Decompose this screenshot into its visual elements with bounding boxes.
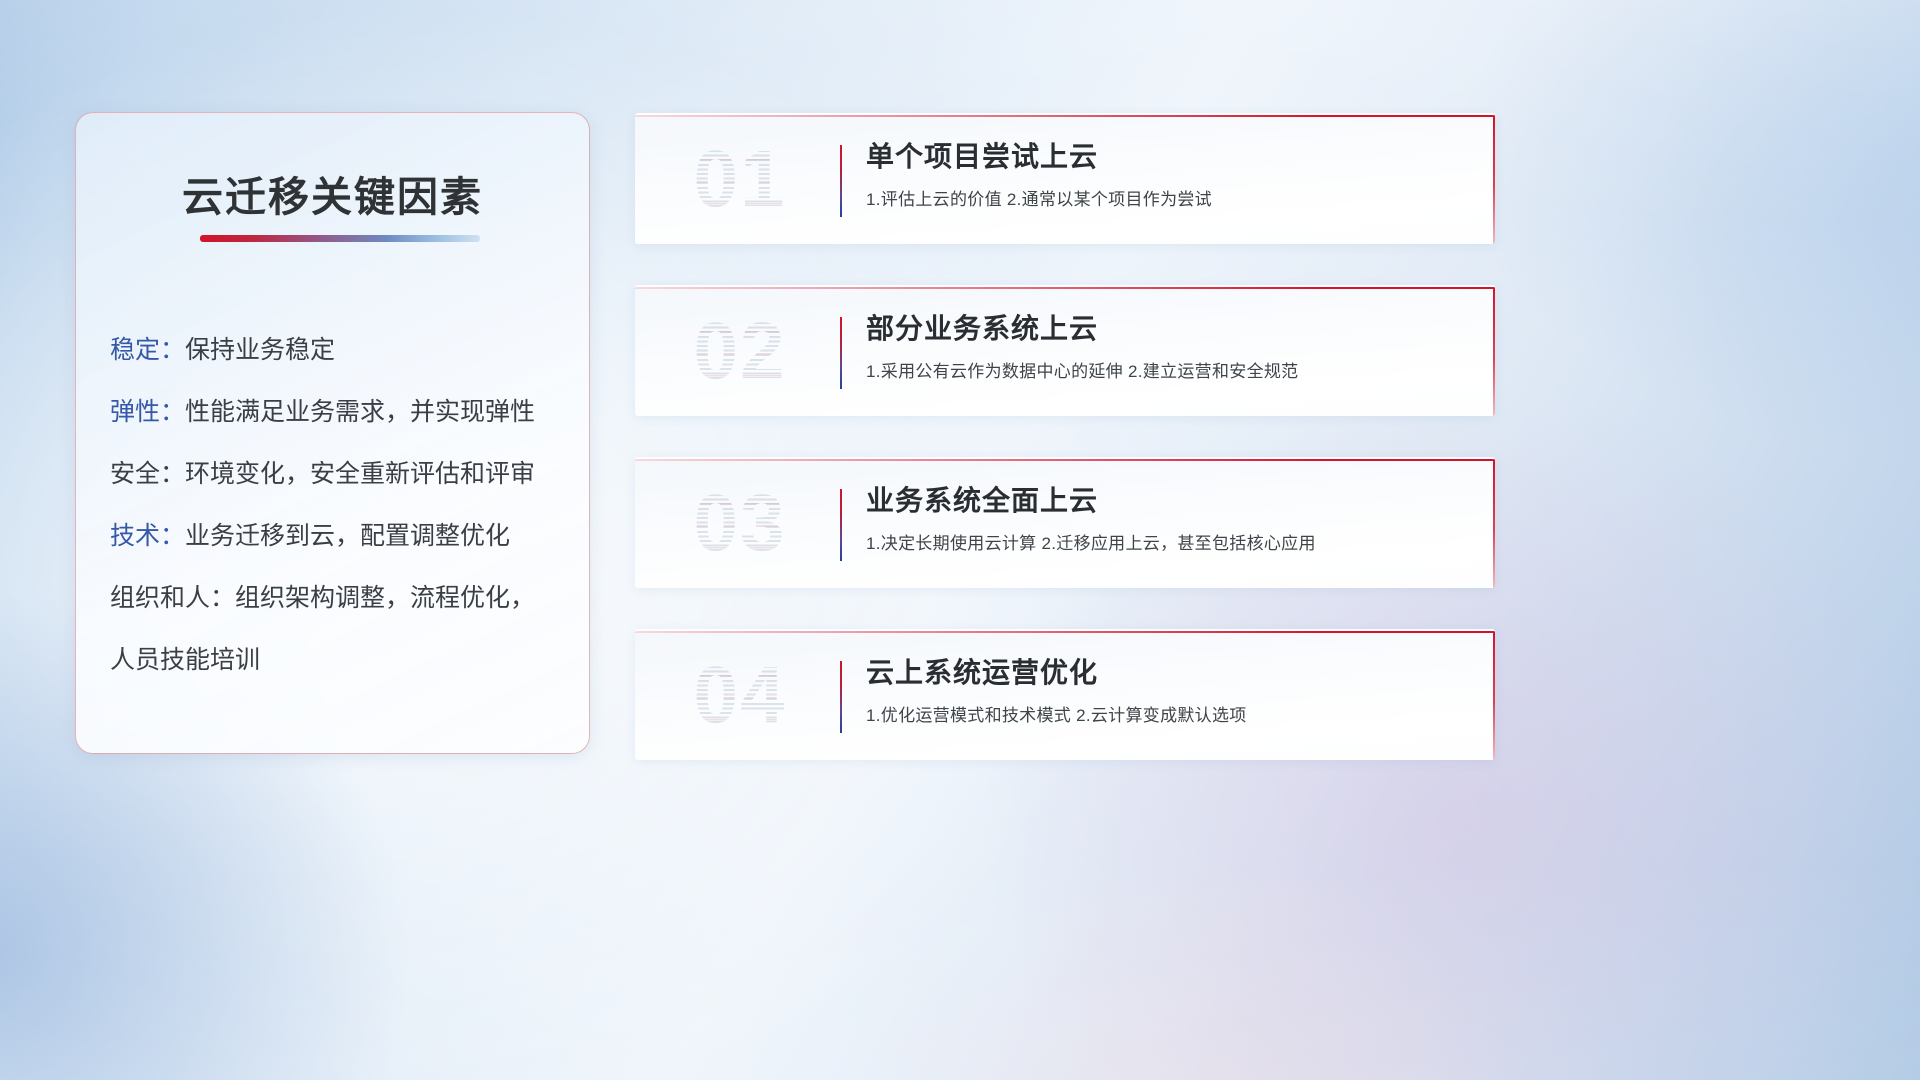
factor-value: 保持业务稳定 (185, 336, 335, 364)
stage-divider-line (840, 317, 842, 389)
stage-body: 单个项目尝试上云1.评估上云的价值 2.通常以某个项目作为尝试 (866, 137, 1469, 212)
factor-row: 组织和人：组织架构调整，流程优化， (110, 567, 569, 629)
stage-detail: 1.采用公有云作为数据中心的延伸 2.建立运营和安全规范 (866, 360, 1469, 384)
page-title: 云迁移关键因素 (76, 163, 589, 223)
stage-title: 单个项目尝试上云 (866, 137, 1469, 177)
stage-card[interactable]: 0404云上系统运营优化1.优化运营模式和技术模式 2.云计算变成默认选项 (635, 629, 1495, 760)
stage-detail: 1.优化运营模式和技术模式 2.云计算变成默认选项 (866, 704, 1469, 728)
stage-number: 01 (660, 127, 820, 231)
stage-number: 02 (660, 299, 820, 403)
factor-row: 人员技能培训 (110, 629, 569, 691)
factor-value: 环境变化，安全重新评估和评审 (185, 460, 535, 488)
stage-title: 云上系统运营优化 (866, 653, 1469, 693)
stage-card[interactable]: 0303业务系统全面上云1.决定长期使用云计算 2.迁移应用上云，甚至包括核心应… (635, 457, 1495, 588)
stage-body: 云上系统运营优化1.优化运营模式和技术模式 2.云计算变成默认选项 (866, 653, 1469, 728)
factor-value: 组织架构调整，流程优化， (235, 584, 535, 612)
stage-divider-line (840, 489, 842, 561)
stage-card[interactable]: 0101单个项目尝试上云1.评估上云的价值 2.通常以某个项目作为尝试 (635, 113, 1495, 244)
stage-detail: 1.评估上云的价值 2.通常以某个项目作为尝试 (866, 188, 1469, 212)
title-underline-bar (200, 235, 480, 242)
factor-list: 稳定：保持业务稳定弹性：性能满足业务需求，并实现弹性安全：环境变化，安全重新评估… (110, 319, 569, 691)
factor-label: 技术： (110, 522, 185, 550)
stage-card[interactable]: 0202部分业务系统上云1.采用公有云作为数据中心的延伸 2.建立运营和安全规范 (635, 285, 1495, 416)
factor-label: 安全： (110, 460, 185, 488)
factor-row: 技术：业务迁移到云，配置调整优化 (110, 505, 569, 567)
factor-row: 弹性：性能满足业务需求，并实现弹性 (110, 381, 569, 443)
stage-divider-line (840, 661, 842, 733)
stage-number: 04 (660, 643, 820, 747)
factor-value: 性能满足业务需求，并实现弹性 (185, 398, 535, 426)
factor-value: 业务迁移到云，配置调整优化 (185, 522, 510, 550)
key-factors-panel: 云迁移关键因素 稳定：保持业务稳定弹性：性能满足业务需求，并实现弹性安全：环境变… (75, 112, 590, 754)
stage-body: 部分业务系统上云1.采用公有云作为数据中心的延伸 2.建立运营和安全规范 (866, 309, 1469, 384)
stage-card-list: 0101单个项目尝试上云1.评估上云的价值 2.通常以某个项目作为尝试0202部… (635, 113, 1495, 801)
factor-label: 稳定： (110, 336, 185, 364)
factor-value: 人员技能培训 (110, 646, 260, 674)
stage-title: 部分业务系统上云 (866, 309, 1469, 349)
factor-row: 稳定：保持业务稳定 (110, 319, 569, 381)
stage-number: 03 (660, 471, 820, 575)
factor-row: 安全：环境变化，安全重新评估和评审 (110, 443, 569, 505)
stage-title: 业务系统全面上云 (866, 481, 1469, 521)
factor-label: 组织和人： (110, 584, 235, 612)
stage-body: 业务系统全面上云1.决定长期使用云计算 2.迁移应用上云，甚至包括核心应用 (866, 481, 1469, 556)
stage-divider-line (840, 145, 842, 217)
factor-label: 弹性： (110, 398, 185, 426)
stage-detail: 1.决定长期使用云计算 2.迁移应用上云，甚至包括核心应用 (866, 532, 1469, 556)
